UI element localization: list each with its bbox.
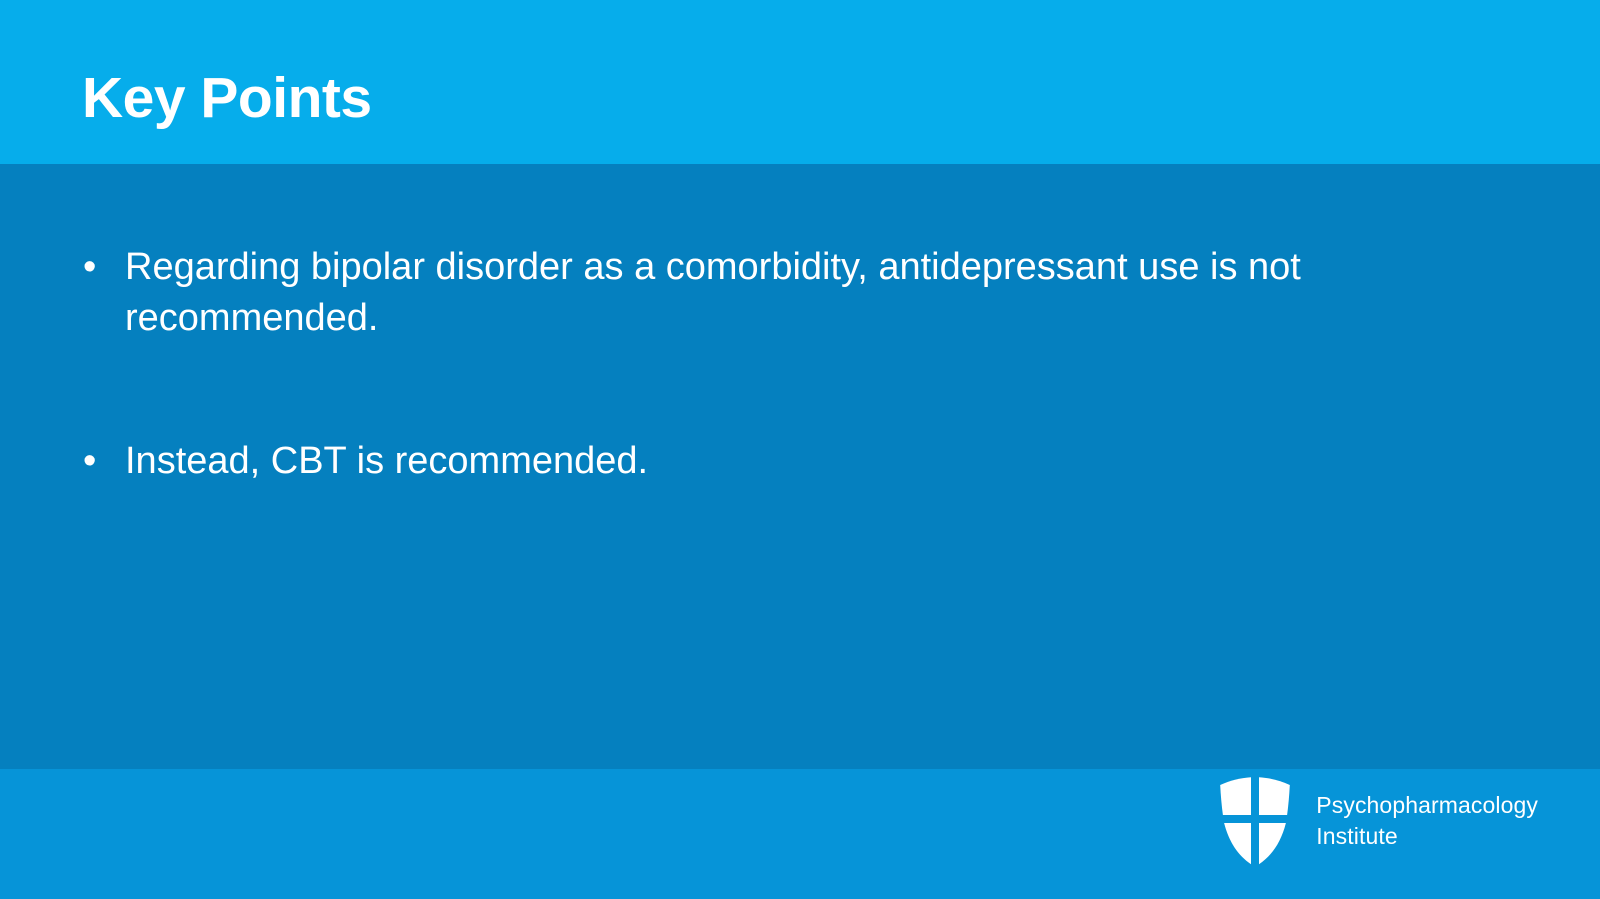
slide-footer-band: Psychopharmacology Institute <box>0 769 1600 899</box>
bullet-list: • Regarding bipolar disorder as a comorb… <box>78 242 1398 487</box>
brand-name-line-1: Psychopharmacology <box>1316 792 1538 818</box>
bullet-point-icon: • <box>78 436 125 487</box>
shield-logo-icon <box>1216 777 1294 865</box>
list-item: • Regarding bipolar disorder as a comorb… <box>78 242 1398 344</box>
list-item-text: Regarding bipolar disorder as a comorbid… <box>125 242 1347 344</box>
slide-body: • Regarding bipolar disorder as a comorb… <box>0 164 1600 769</box>
slide-header-band: Key Points <box>0 0 1600 164</box>
brand-name: Psychopharmacology Institute <box>1316 790 1538 852</box>
page-title: Key Points <box>82 70 372 127</box>
bullet-spacer <box>78 344 1398 436</box>
slide: Key Points • Regarding bipolar disorder … <box>0 0 1600 899</box>
list-item: • Instead, CBT is recommended. <box>78 436 1398 487</box>
bullet-point-icon: • <box>78 242 125 293</box>
list-item-text: Instead, CBT is recommended. <box>125 436 1347 487</box>
brand-name-line-2: Institute <box>1316 821 1538 852</box>
brand-lockup: Psychopharmacology Institute <box>1216 777 1538 865</box>
